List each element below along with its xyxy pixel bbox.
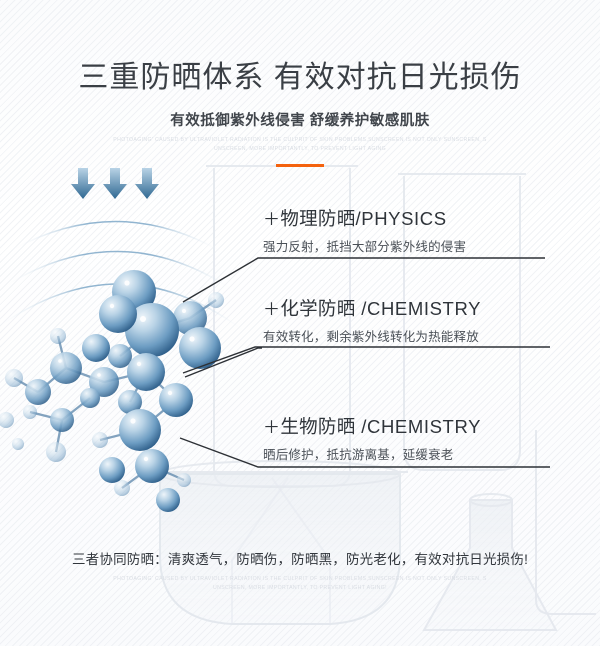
feature-item-chemistry: ＋化学防晒 /CHEMISTRY 有效转化，剩余紫外线转化为热能释放 [263,295,481,345]
feature-title-cn: 化学防晒 [280,298,355,319]
plus-icon: ＋ [263,418,280,437]
feature-desc-chemistry: 有效转化，剩余紫外线转化为热能释放 [263,326,481,345]
orange-divider [276,164,324,167]
header-english-block: PHOTOAGING' CAUSED BY ULTRAVIOLET RADIAT… [0,136,600,153]
page-subtitle: 有效抵御紫外线侵害 舒缓养护敏感肌肤 [0,109,600,130]
summary-block: 三者协同防晒：清爽透气，防晒伤，防晒黑，防光老化，有效对抗日光损伤! PHOTO… [0,548,600,592]
header-english-line-2: UNSCREEN, MORE IMPORTANTLY, TO PREVENT L… [0,145,600,154]
feature-desc-physics: 强力反射，抵挡大部分紫外线的侵害 [263,236,466,255]
feature-item-biology: ＋生物防晒 /CHEMISTRY 晒后修护，抵抗游离基，延缓衰老 [263,413,481,463]
header-english-line-1: PHOTOAGING' CAUSED BY ULTRAVIOLET RADIAT… [0,136,600,145]
summary-english-line-2: UNSCREEN, MORE IMPORTANTLY, TO PREVENT L… [0,584,600,593]
plus-icon: ＋ [263,210,280,229]
feature-title-physics: ＋物理防晒/PHYSICS [263,205,466,231]
plus-icon: ＋ [263,300,280,319]
feature-item-physics: ＋物理防晒/PHYSICS 强力反射，抵挡大部分紫外线的侵害 [263,205,466,255]
page-header: 三重防晒体系 有效对抗日光损伤 有效抵御紫外线侵害 舒缓养护敏感肌肤 PHOTO… [0,0,600,167]
uv-shield-arcs-icon [0,221,248,334]
feature-title-en: /PHYSICS [356,208,447,229]
summary-text: 三者协同防晒：清爽透气，防晒伤，防晒黑，防光老化，有效对抗日光损伤! [0,548,600,568]
sunscreen-infographic-page: 三重防晒体系 有效对抗日光损伤 有效抵御紫外线侵害 舒缓养护敏感肌肤 PHOTO… [0,0,600,646]
feature-title-cn: 生物防晒 [280,416,355,437]
feature-desc-biology: 晒后修护，抵抗游离基，延缓衰老 [263,444,481,463]
feature-title-cn: 物理防晒 [280,208,355,229]
page-title: 三重防晒体系 有效对抗日光损伤 [0,52,600,96]
feature-title-en: /CHEMISTRY [356,416,482,437]
feature-title-biology: ＋生物防晒 /CHEMISTRY [263,413,481,439]
uv-ray-down-arrows-icon [71,168,159,199]
feature-title-chemistry: ＋化学防晒 /CHEMISTRY [263,295,481,321]
summary-english-block: PHOTOAGING' CAUSED BY ULTRAVIOLET RADIAT… [0,575,600,592]
summary-english-line-1: PHOTOAGING' CAUSED BY ULTRAVIOLET RADIAT… [0,575,600,584]
feature-title-en: /CHEMISTRY [356,298,482,319]
